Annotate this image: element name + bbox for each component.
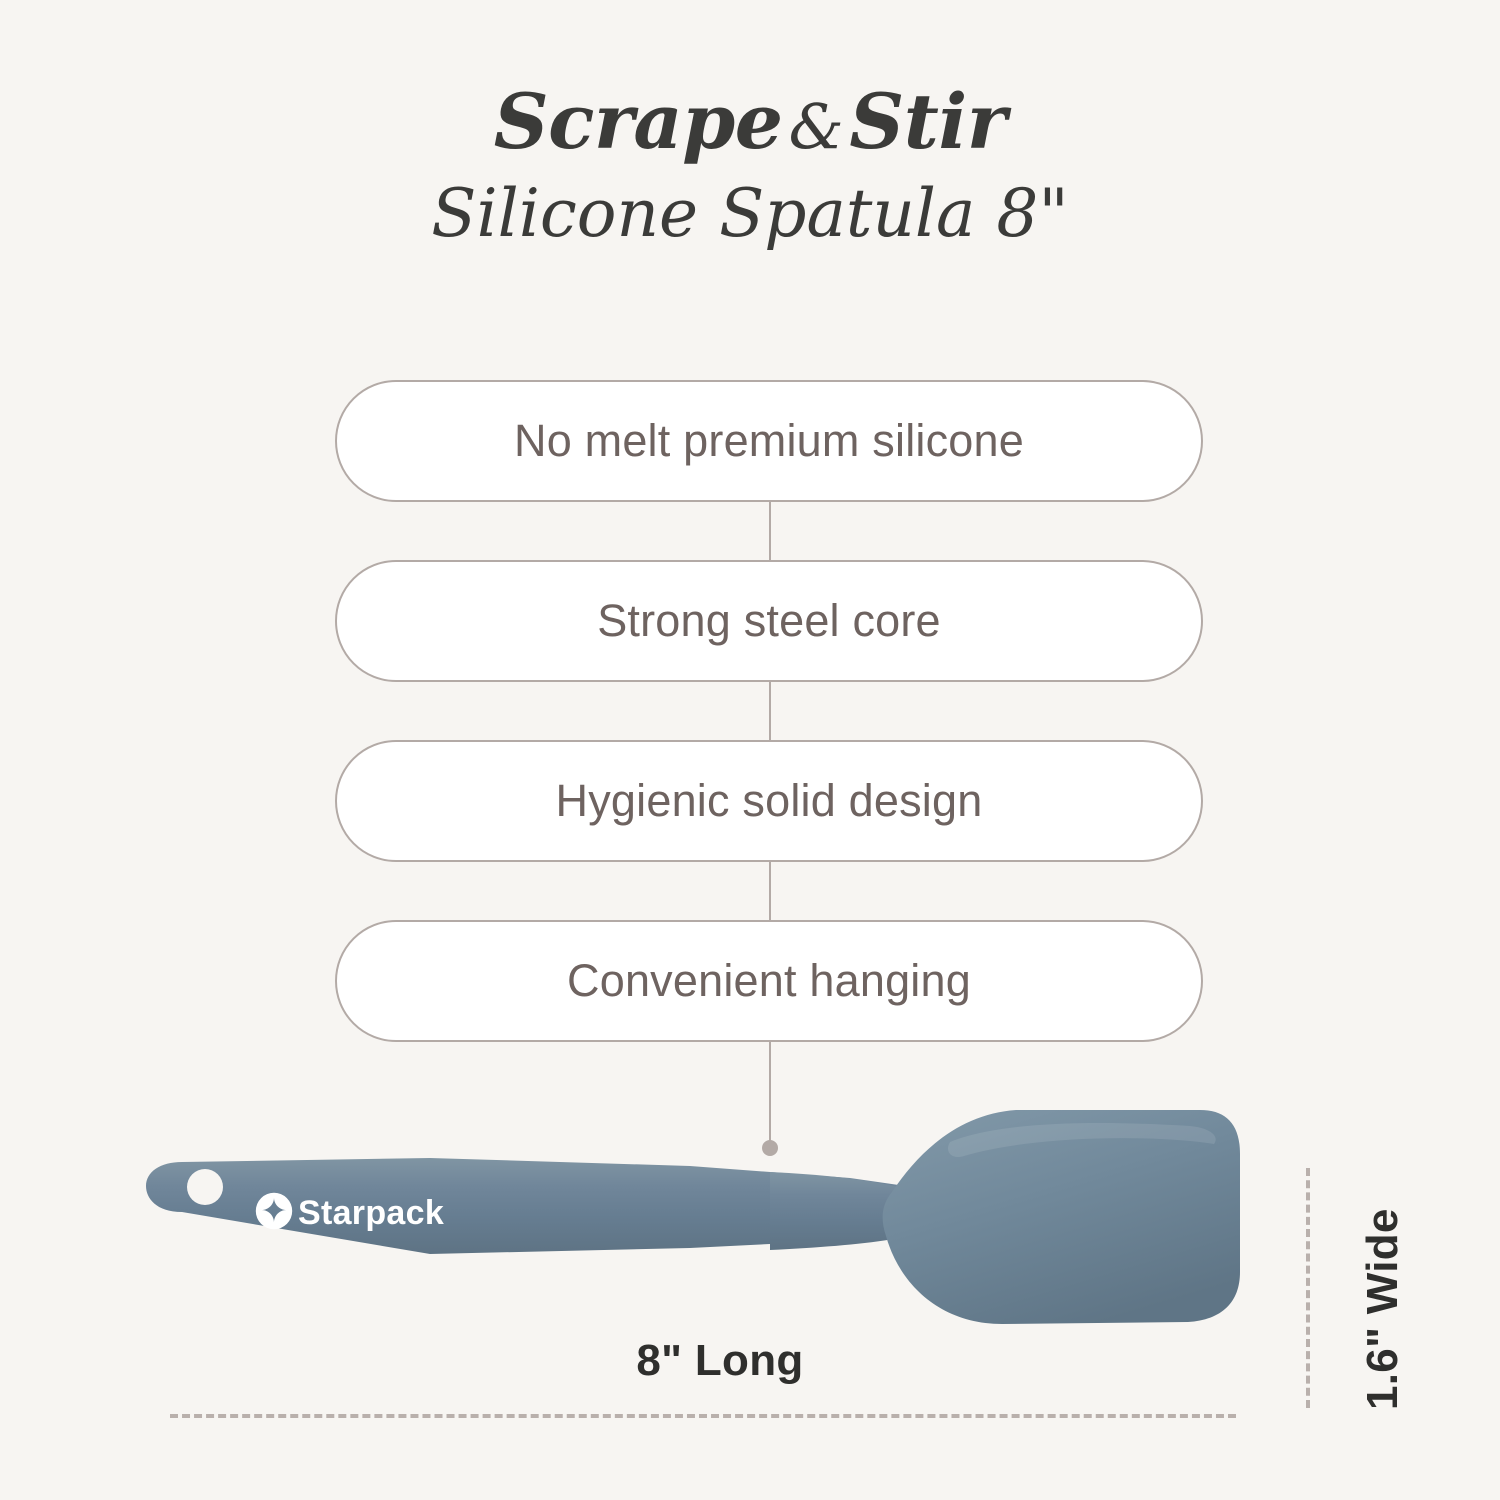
starpack-logo-icon: [255, 1192, 293, 1230]
pill-connector-tail: [769, 1042, 771, 1146]
pill-connector-3: [769, 862, 771, 920]
pill-connector-1: [769, 502, 771, 560]
feature-pill-2[interactable]: Strong steel core: [335, 560, 1203, 682]
feature-pill-3-label: Hygienic solid design: [556, 775, 983, 827]
title-subtitle: Silicone Spatula 8": [0, 175, 1500, 253]
hanging-hole: [187, 1169, 223, 1205]
width-dimension-label: 1.6" Wide: [1358, 1160, 1404, 1410]
brand-wordmark: Starpack: [298, 1194, 444, 1233]
width-dimension-line: [1306, 1168, 1310, 1408]
feature-pill-4[interactable]: Convenient hanging: [335, 920, 1203, 1042]
pill-connector-2: [769, 682, 771, 740]
spatula-blade: [883, 1110, 1240, 1324]
title-word-stir: Stir: [849, 77, 1006, 166]
length-dimension-label: 8" Long: [500, 1336, 940, 1386]
feature-pill-3[interactable]: Hygienic solid design: [335, 740, 1203, 862]
feature-pill-2-label: Strong steel core: [597, 595, 941, 647]
infographic-canvas: Scrape&Stir Silicone Spatula 8" No melt …: [0, 0, 1500, 1500]
pointer-dot: [762, 1140, 778, 1156]
length-dimension-line: [170, 1414, 1236, 1418]
feature-pill-4-label: Convenient hanging: [567, 955, 971, 1007]
feature-pill-1-label: No melt premium silicone: [514, 415, 1024, 467]
title-main-line: Scrape&Stir: [0, 82, 1500, 163]
feature-pill-1[interactable]: No melt premium silicone: [335, 380, 1203, 502]
title-ampersand: &: [783, 90, 850, 163]
page-title: Scrape&Stir Silicone Spatula 8": [0, 82, 1500, 252]
title-word-scrape: Scrape: [494, 77, 783, 166]
